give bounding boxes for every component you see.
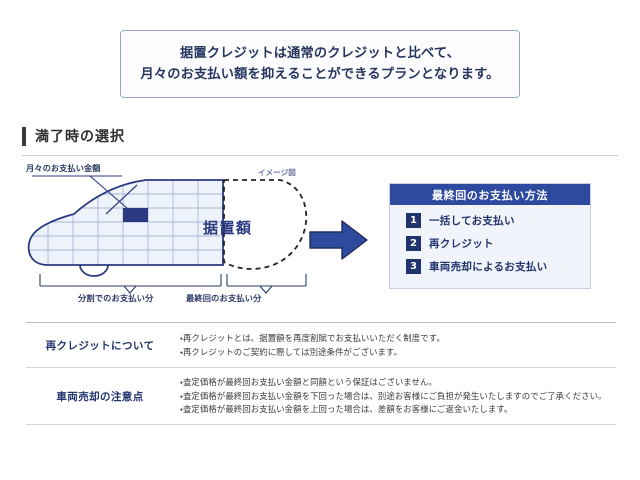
flow-arrow <box>308 218 370 262</box>
note-line: ・査定価格が最終回お支払い金額と同額という保証はございません。 <box>180 377 616 388</box>
notice-box: 据置クレジットは通常のクレジットと比べて、 月々のお支払い額を抑えることができる… <box>120 30 520 98</box>
notice-line-1: 据置クレジットは通常のクレジットと比べて、 <box>180 46 460 62</box>
table-row: 車両売却の注意点 ・査定価格が最終回お支払い金額と同額という保証はございません。… <box>26 368 616 424</box>
section-title: 満了時の選択 <box>35 126 125 146</box>
bracket-final <box>227 274 306 293</box>
section-divider <box>22 155 618 156</box>
method-label: 一括してお支払い <box>429 213 515 228</box>
residual-amount-label: 据置額 <box>203 217 253 238</box>
note-line: ・再クレジットのご契約に際しては別途条件がございます。 <box>180 347 616 358</box>
method-label: 車両売却によるお支払い <box>429 259 547 274</box>
method-number-badge: 1 <box>406 213 421 228</box>
note-row-body: ・査定価格が最終回お支払い金額と同額という保証はございません。 ・査定価格が最終… <box>174 377 616 415</box>
method-item-3[interactable]: 3 車両売却によるお支払い <box>406 259 590 274</box>
method-item-1[interactable]: 1 一括してお支払い <box>406 213 590 228</box>
bracket-split-label: 分割でのお支払い分 <box>78 292 154 304</box>
wheel-arch <box>80 265 108 276</box>
notes-table: 再クレジットについて ・再クレジットとは、据置額を再度割賦でお支払いいただく制度… <box>26 322 616 425</box>
notes-bottom-rule <box>26 424 616 425</box>
methods-list: 1 一括してお支払い 2 再クレジット 3 車両売却によるお支払い <box>390 205 590 274</box>
note-row-body: ・再クレジットとは、据置額を再度割賦でお支払いいただく制度です。 ・再クレジット… <box>174 333 616 357</box>
section-heading: 満了時の選択 <box>22 126 618 156</box>
monthly-payment-cell <box>123 208 148 222</box>
section-accent-bar <box>22 127 26 146</box>
payment-diagram: 月々のお支払い金額 イメージ図 据置額 分割でのお支払い分 最終回のお支払い分 <box>18 162 338 307</box>
method-item-2[interactable]: 2 再クレジット <box>406 236 590 251</box>
note-row-label: 再クレジットについて <box>26 338 174 353</box>
note-line: ・査定価格が最終回お支払い金額を下回った場合は、別途お客様にご負担が発生いたしま… <box>180 391 616 402</box>
infographic-page: 据置クレジットは通常のクレジットと比べて、 月々のお支払い額を抑えることができる… <box>0 0 640 480</box>
bracket-split <box>40 274 221 293</box>
image-note-label: イメージ図 <box>258 167 296 178</box>
method-number-badge: 3 <box>406 259 421 274</box>
monthly-payment-label: 月々のお支払い金額 <box>26 162 101 174</box>
note-row-label: 車両売却の注意点 <box>26 389 174 404</box>
diagram-graphic <box>18 162 338 307</box>
note-line: ・再クレジットとは、据置額を再度割賦でお支払いいただく制度です。 <box>180 333 616 344</box>
note-line: ・査定価格が最終回お支払い金額を上回った場合は、差額をお客様にご返金いたします。 <box>180 404 616 415</box>
methods-panel-header: 最終回のお支払い方法 <box>390 184 590 205</box>
final-payment-methods-panel: 最終回のお支払い方法 1 一括してお支払い 2 再クレジット 3 車両売却による… <box>389 183 591 289</box>
notice-line-2: 月々のお支払い額を抑えることができるプランとなります。 <box>140 67 499 83</box>
table-row: 再クレジットについて ・再クレジットとは、据置額を再度割賦でお支払いいただく制度… <box>26 323 616 367</box>
right-arrow-icon <box>308 218 370 262</box>
bracket-final-label: 最終回のお支払い分 <box>186 292 262 304</box>
method-label: 再クレジット <box>429 236 494 251</box>
method-number-badge: 2 <box>406 236 421 251</box>
